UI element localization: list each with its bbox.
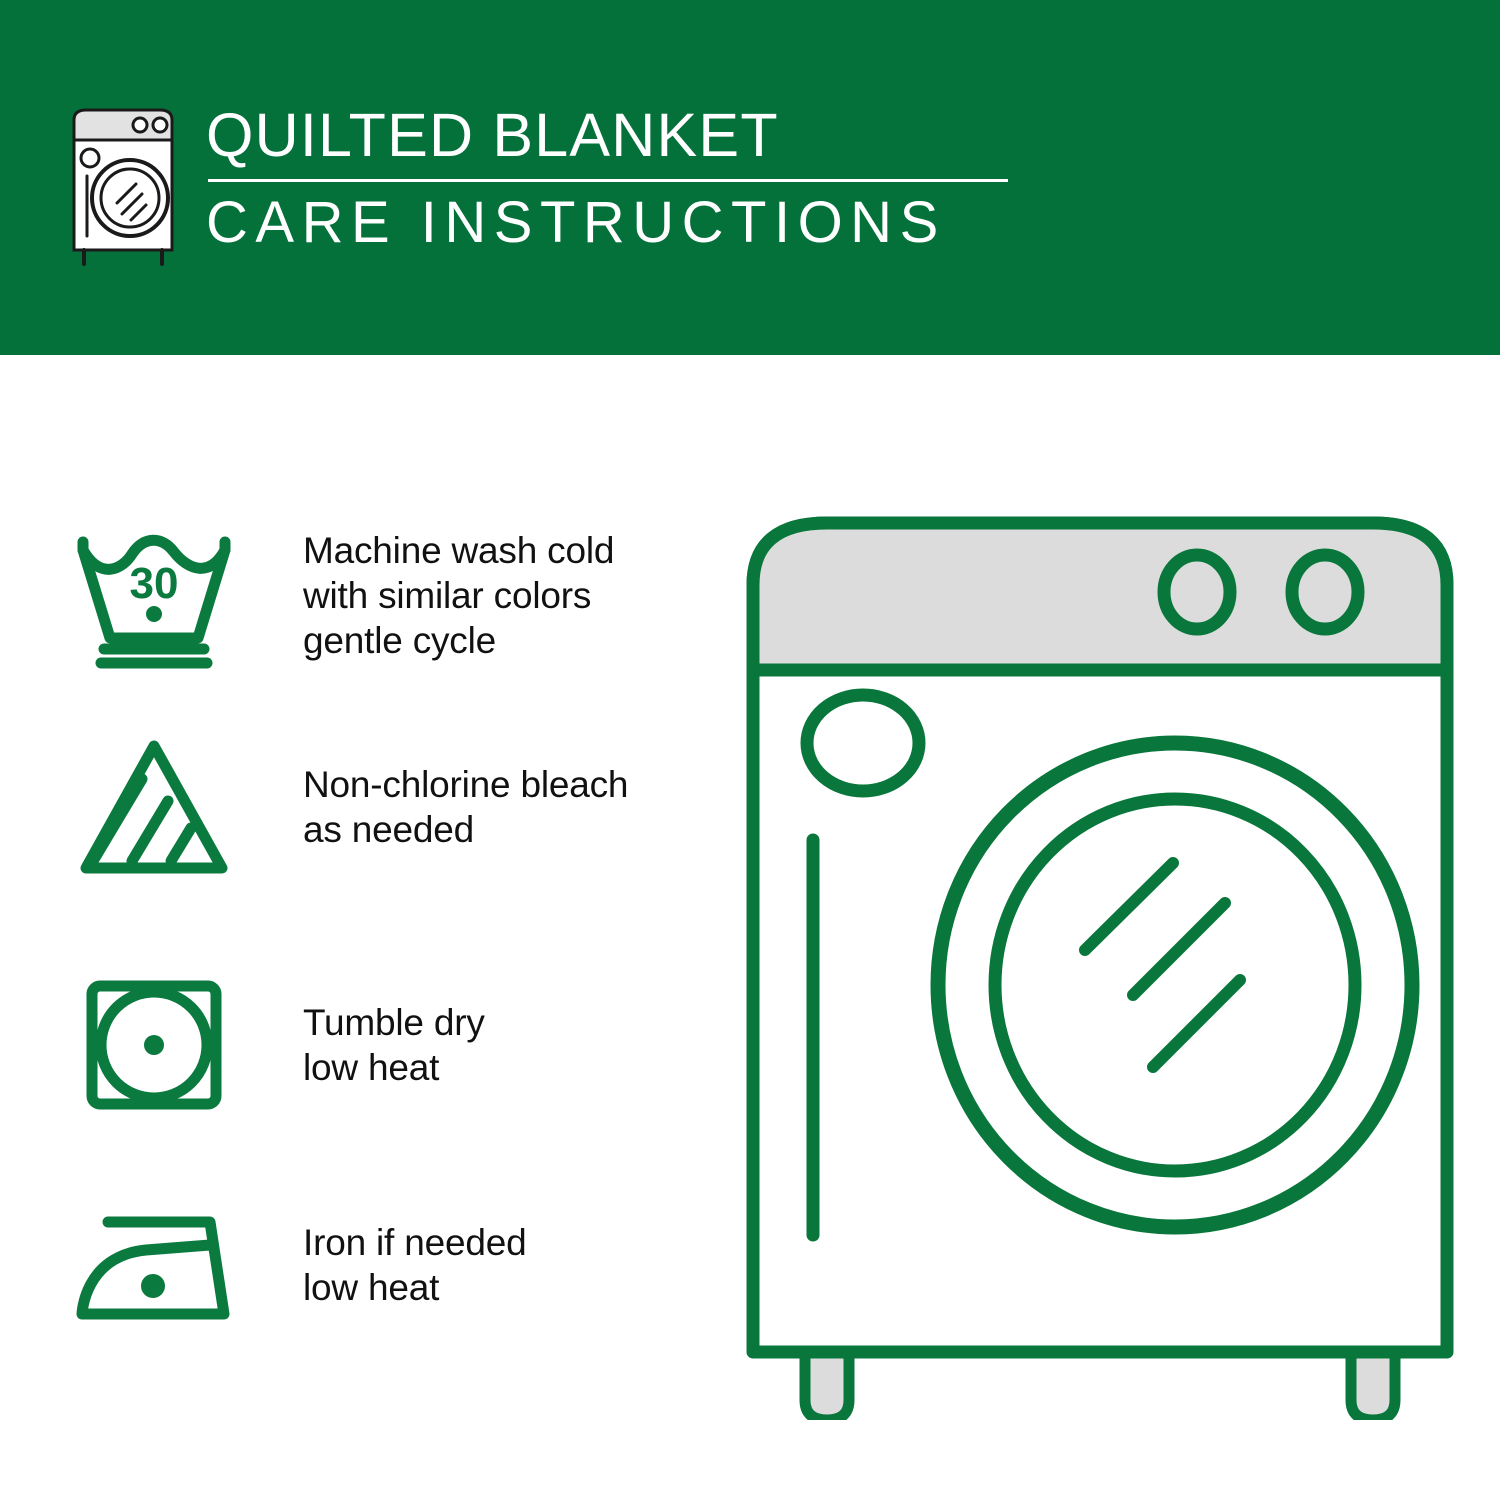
header-content: QUILTED BLANKET CARE INSTRUCTIONS (62, 98, 1062, 273)
care-row: Non-chlorine bleach as needed (70, 727, 710, 887)
care-row: 30 Machine wash cold with similar colors… (70, 515, 710, 675)
header-band: QUILTED BLANKET CARE INSTRUCTIONS (0, 0, 1500, 355)
detergent-indicator (807, 695, 919, 791)
care-instruction-list: 30 Machine wash cold with similar colors… (0, 355, 740, 1500)
care-row: Tumble dry low heat (70, 965, 710, 1125)
care-label: Machine wash cold with similar colors ge… (245, 528, 710, 663)
wash-tub-30-gentle-icon: 30 (70, 515, 245, 675)
non-chlorine-bleach-triangle-icon (70, 727, 245, 887)
care-label: Iron if needed low heat (245, 1220, 710, 1310)
care-instructions-poster: QUILTED BLANKET CARE INSTRUCTIONS (0, 0, 1500, 1500)
title-divider (208, 179, 1008, 182)
tumble-dry-low-icon (70, 965, 245, 1125)
page-subtitle: CARE INSTRUCTIONS (206, 191, 1062, 255)
wash-temperature-label: 30 (130, 559, 179, 608)
iron-low-heat-icon (70, 1185, 245, 1345)
page-title: QUILTED BLANKET (206, 102, 1062, 168)
door-inner-ring (995, 799, 1355, 1171)
knob-left (1164, 555, 1230, 629)
care-label: Non-chlorine bleach as needed (245, 762, 710, 852)
care-row: Iron if needed low heat (70, 1185, 710, 1345)
front-load-washing-machine-illustration (735, 495, 1465, 1420)
knob-right (1292, 555, 1358, 629)
washer-legs (805, 1350, 1395, 1420)
washing-machine-icon (62, 98, 184, 266)
header-text-block: QUILTED BLANKET CARE INSTRUCTIONS (206, 98, 1062, 255)
care-label: Tumble dry low heat (245, 1000, 710, 1090)
